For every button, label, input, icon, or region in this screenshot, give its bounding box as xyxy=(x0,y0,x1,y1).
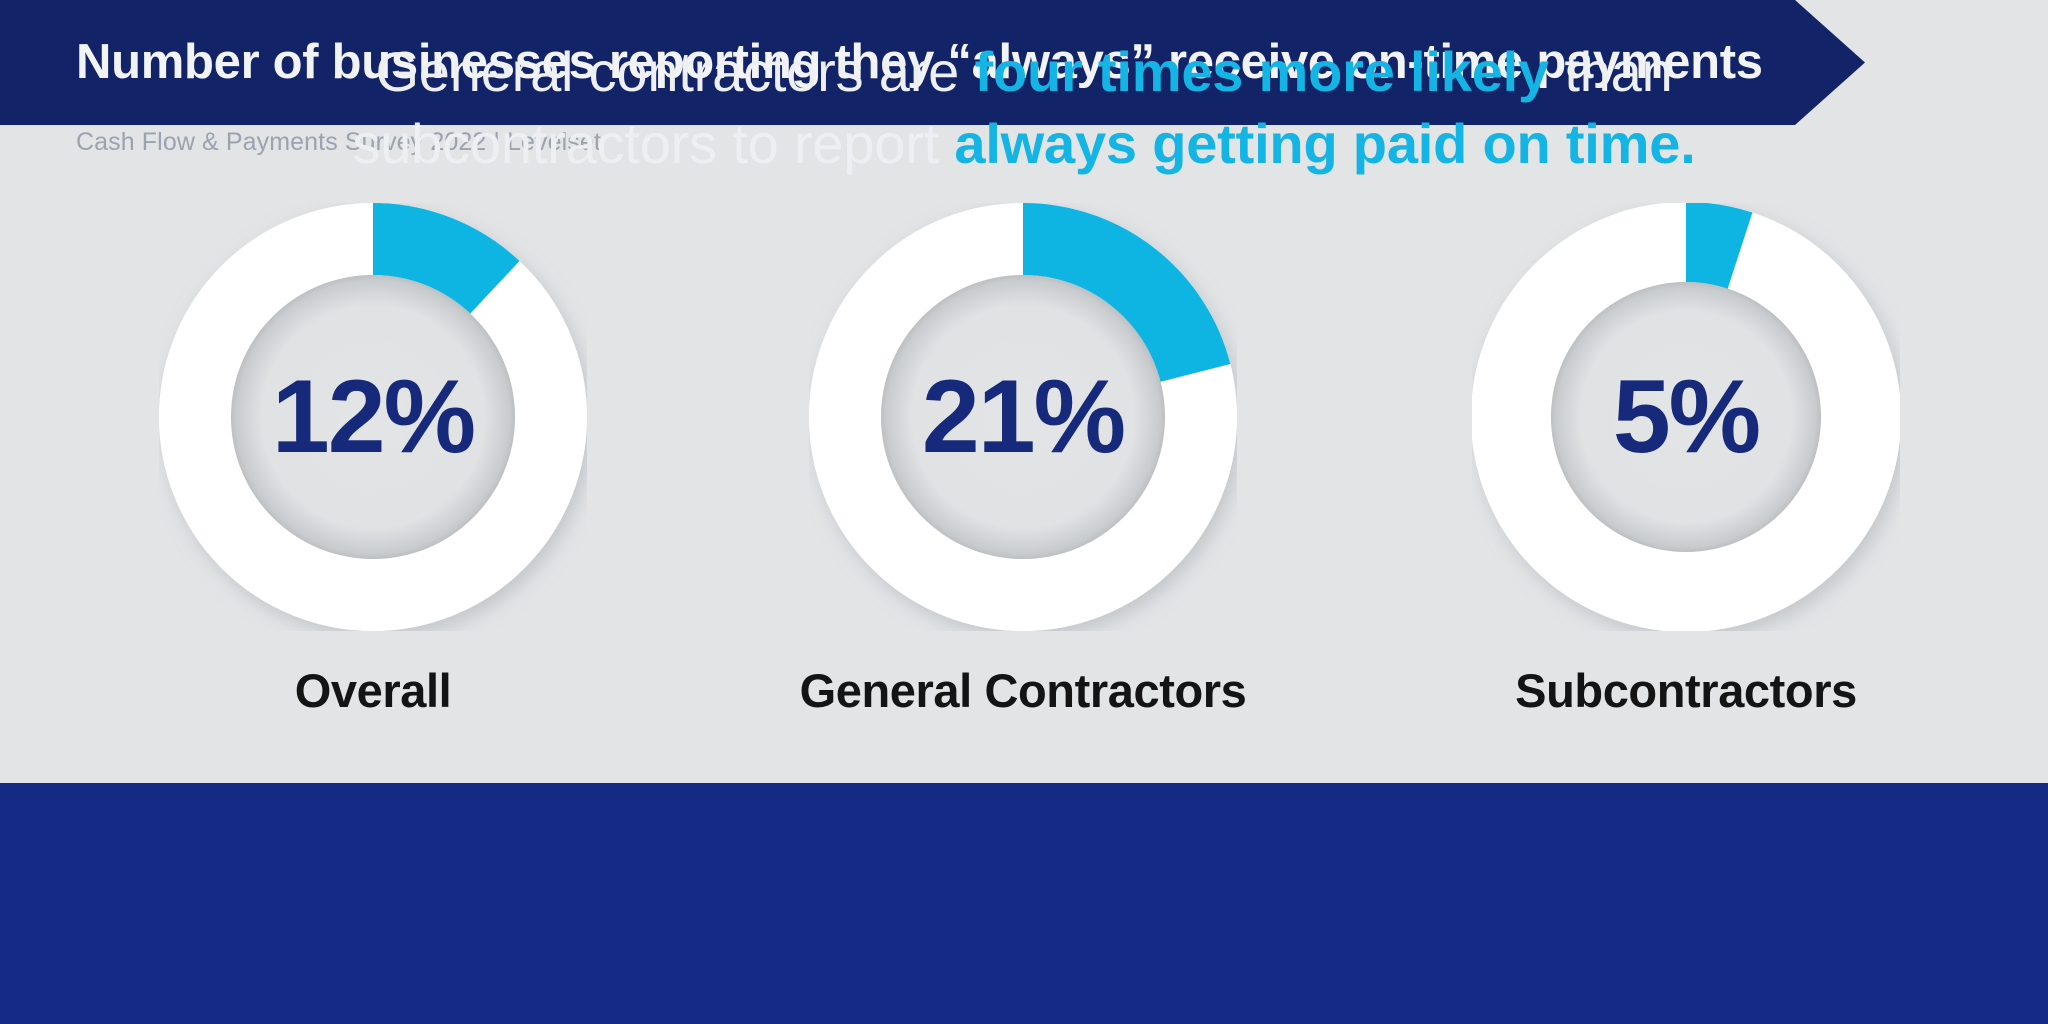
infographic-canvas: Number of businesses reporting they “alw… xyxy=(0,0,2048,1024)
donut-svg-0 xyxy=(159,203,587,631)
donut-charts-row: 12% Overall xyxy=(0,165,2048,785)
donut-chart-overall: 12% Overall xyxy=(73,165,673,785)
footer-line1-highlight: four times more likely xyxy=(975,40,1549,103)
footer-banner xyxy=(0,783,2048,1024)
footer-line1-part1: General contractors are xyxy=(375,40,974,103)
footer-callout: General contractors are four times more … xyxy=(0,36,2048,180)
donut-label-2: Subcontractors xyxy=(1386,663,1986,718)
donut-graphic-1: 21% xyxy=(809,203,1237,631)
footer-line2-highlight: always getting paid on time. xyxy=(954,112,1695,175)
footer-line-2: subcontractors to report always getting … xyxy=(0,108,2048,180)
donut-label-1: General Contractors xyxy=(723,663,1323,718)
donut-svg-1 xyxy=(809,203,1237,631)
donut-label-0: Overall xyxy=(73,663,673,718)
donut-chart-general-contractors: 21% General Contractors xyxy=(723,165,1323,785)
donut-svg-2 xyxy=(1472,203,1900,631)
footer-line2-part1: subcontractors to report xyxy=(352,112,954,175)
footer-line1-part2: than xyxy=(1549,40,1673,103)
donut-graphic-0: 12% xyxy=(159,203,587,631)
donut-chart-subcontractors: 5% Subcontractors xyxy=(1386,165,1986,785)
donut-graphic-2: 5% xyxy=(1472,203,1900,631)
footer-line-1: General contractors are four times more … xyxy=(0,36,2048,108)
